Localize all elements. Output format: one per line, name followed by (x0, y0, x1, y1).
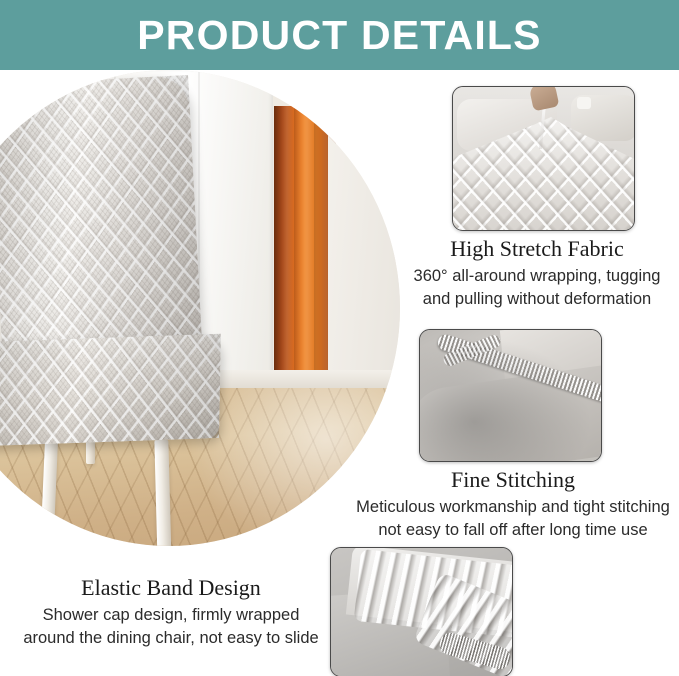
fabric-shading (0, 334, 221, 446)
feature-body-line-2: not easy to fall off after long time use (347, 519, 679, 542)
feature-body-line-2: around the dining chair, not easy to sli… (6, 627, 336, 650)
wall-right-section (328, 70, 400, 410)
cup-on-table (577, 97, 591, 109)
page-title: PRODUCT DETAILS (137, 15, 541, 56)
feature-image-high-stretch-fabric (452, 86, 635, 231)
curtain-folds (274, 106, 336, 406)
feature-image-fine-stitching (419, 329, 602, 462)
feature-body-line-1: Shower cap design, firmly wrapped (6, 604, 336, 627)
feature-caption-high-stretch-fabric: High Stretch Fabric 360° all-around wrap… (395, 236, 679, 311)
feature-image-elastic-band (330, 547, 513, 676)
product-details-page: PRODUCT DETAILS (0, 0, 679, 676)
feature-caption-fine-stitching: Fine Stitching Meticulous workmanship an… (347, 467, 679, 542)
feature-body-line-1: Meticulous workmanship and tight stitchi… (347, 496, 679, 519)
feature-title: Fine Stitching (347, 467, 679, 492)
feature-title: Elastic Band Design (6, 575, 336, 600)
feature-title: High Stretch Fabric (395, 236, 679, 261)
chair-seat-cover (0, 334, 221, 446)
hero-product-photo (0, 70, 400, 546)
header-banner: PRODUCT DETAILS (0, 0, 679, 70)
fabric-shading (420, 330, 601, 461)
feature-caption-elastic-band: Elastic Band Design Shower cap design, f… (6, 575, 336, 650)
feature-body-line-1: 360° all-around wrapping, tugging (395, 265, 679, 288)
feature-body-line-2: and pulling without deformation (395, 288, 679, 311)
